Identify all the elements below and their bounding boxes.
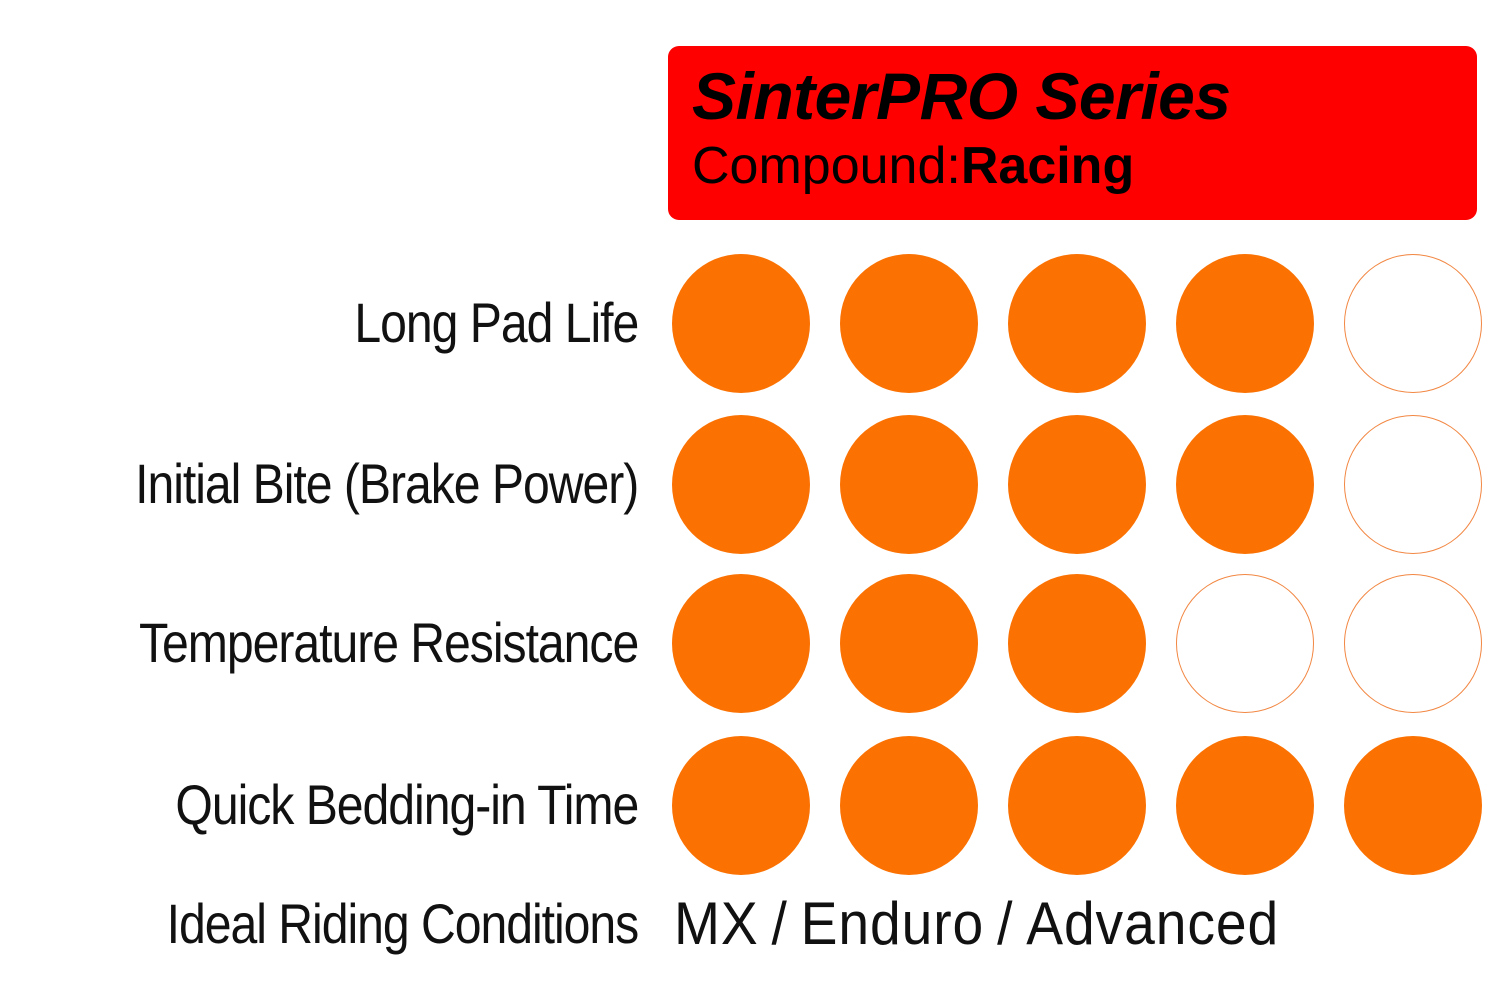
rating-dot-empty	[1176, 574, 1314, 713]
rating-dot-filled	[840, 254, 978, 393]
rating-dot-filled	[1176, 415, 1314, 554]
rating-dot-group	[672, 574, 1482, 713]
product-badge: SinterPRO Series Compound:Racing	[668, 46, 1477, 220]
rating-dot-filled	[672, 736, 810, 875]
rating-row: Initial Bite (Brake Power)	[0, 414, 1500, 554]
rating-row: Quick Bedding-in Time	[0, 735, 1500, 875]
rating-dot-filled	[1008, 415, 1146, 554]
rating-row-label: Initial Bite (Brake Power)	[91, 454, 652, 514]
condition-item-advanced: Advanced	[1026, 890, 1279, 957]
rating-dot-filled	[840, 736, 978, 875]
rating-dot-filled	[1176, 254, 1314, 393]
compound-value: Racing	[961, 137, 1134, 195]
riding-conditions-row: Ideal Riding Conditions MX/Enduro/Advanc…	[0, 876, 1500, 972]
riding-conditions-label: Ideal Riding Conditions	[91, 894, 652, 954]
condition-separator: /	[759, 890, 801, 957]
rating-row-label: Long Pad Life	[91, 293, 652, 353]
rating-dot-group	[672, 736, 1482, 875]
rating-dot-empty	[1344, 415, 1482, 554]
rating-dot-filled	[672, 415, 810, 554]
rating-dot-filled	[840, 415, 978, 554]
brake-pad-spec-sheet: SinterPRO Series Compound:Racing Long Pa…	[0, 0, 1500, 1000]
rating-dot-group	[672, 254, 1482, 393]
rating-dot-empty	[1344, 254, 1482, 393]
compound-label: Compound:	[692, 137, 961, 195]
riding-conditions-value: MX/Enduro/Advanced	[674, 892, 1279, 956]
rating-dot-filled	[1176, 736, 1314, 875]
compound-line: Compound:Racing	[692, 134, 1477, 198]
rating-dot-group	[672, 415, 1482, 554]
rating-dot-filled	[1008, 254, 1146, 393]
rating-dot-filled	[1008, 736, 1146, 875]
rating-dot-filled	[1008, 574, 1146, 713]
rating-row: Long Pad Life	[0, 253, 1500, 393]
rating-row-label: Quick Bedding-in Time	[91, 775, 652, 835]
rating-row-label: Temperature Resistance	[91, 613, 652, 673]
rating-row: Temperature Resistance	[0, 573, 1500, 713]
condition-item-mx: MX	[674, 890, 759, 957]
rating-dot-filled	[672, 574, 810, 713]
rating-dot-filled	[672, 254, 810, 393]
condition-item-enduro: Enduro	[801, 890, 985, 957]
rating-dot-filled	[1344, 736, 1482, 875]
product-series-title: SinterPRO Series	[692, 56, 1477, 136]
rating-dot-filled	[840, 574, 978, 713]
rating-dot-empty	[1344, 574, 1482, 713]
condition-separator: /	[984, 890, 1026, 957]
